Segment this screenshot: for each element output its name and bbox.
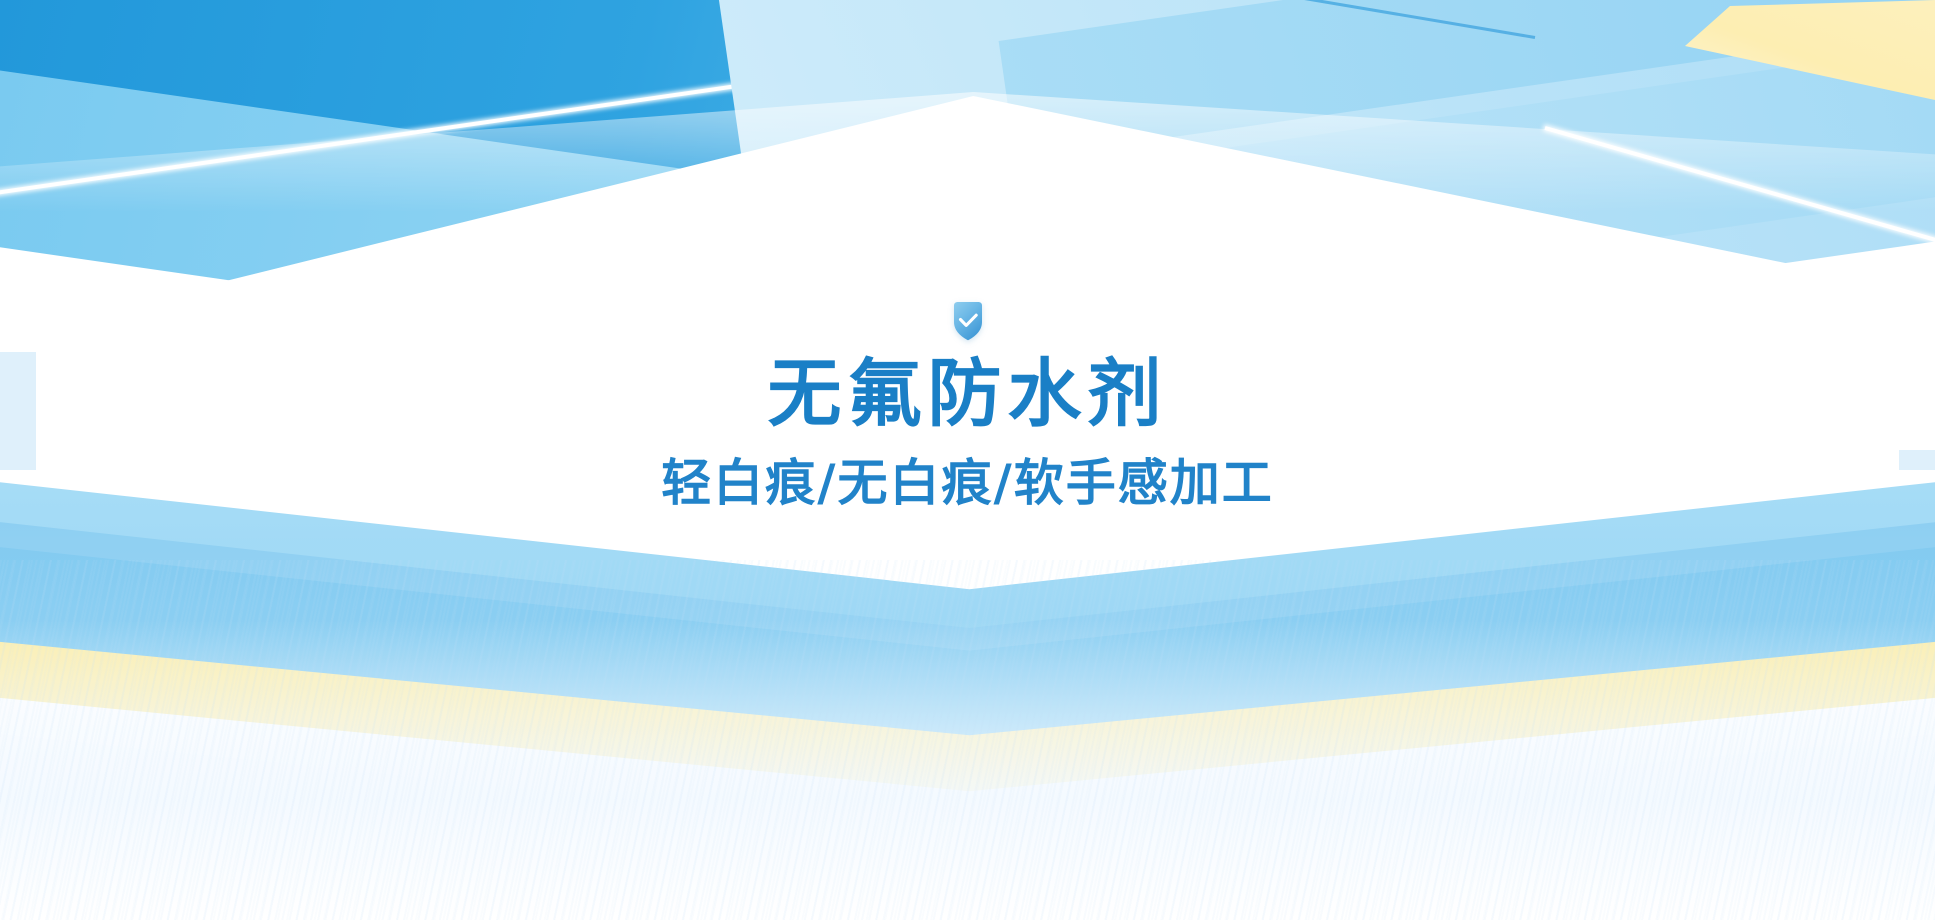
page-title: 无氟防水剂 (768, 356, 1168, 434)
product-hero-banner: 无氟防水剂 轻白痕/无白痕/软手感加工 (0, 0, 1935, 920)
shield-check-icon (949, 300, 987, 342)
banner-content: 无氟防水剂 轻白痕/无白痕/软手感加工 (0, 0, 1935, 920)
page-subtitle: 轻白痕/无白痕/软手感加工 (661, 456, 1274, 511)
